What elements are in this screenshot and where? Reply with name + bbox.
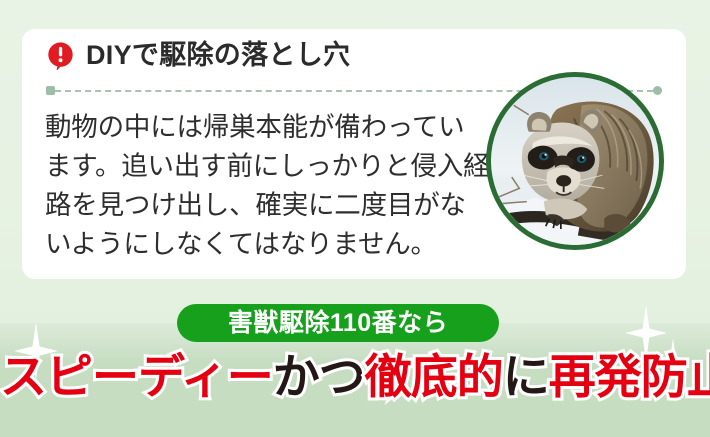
headline: スピーディーかつ徹底的に再発防止! [0,353,710,400]
card-header: DIYで駆除の落とし穴 [46,41,350,70]
headline-part-3: 徹底的 [365,350,503,403]
headline-part-5: 再発防止! [549,350,710,403]
card-title: DIYで駆除の落とし穴 [86,42,350,69]
promo-banner: DIYで駆除の落とし穴 動物の中には帰巣本能が備わっています。追い出す前にしっか… [0,0,710,437]
divider-cap-left [46,86,55,95]
headline-part-1: スピーディー [0,350,273,403]
raccoon-photo-image [491,77,659,245]
headline-part-2: かつ [273,350,365,403]
brand-pill: 害獣駆除110番なら [177,304,499,342]
card-body-text: 動物の中には帰巣本能が備わっています。追い出す前にしっかりと侵入経路を見つけ出し… [45,108,490,264]
headline-part-4: に [503,350,549,403]
raccoon-photo [486,72,664,250]
exclamation-circle-icon [46,41,75,70]
brand-pill-label: 害獣駆除110番なら [228,311,448,336]
